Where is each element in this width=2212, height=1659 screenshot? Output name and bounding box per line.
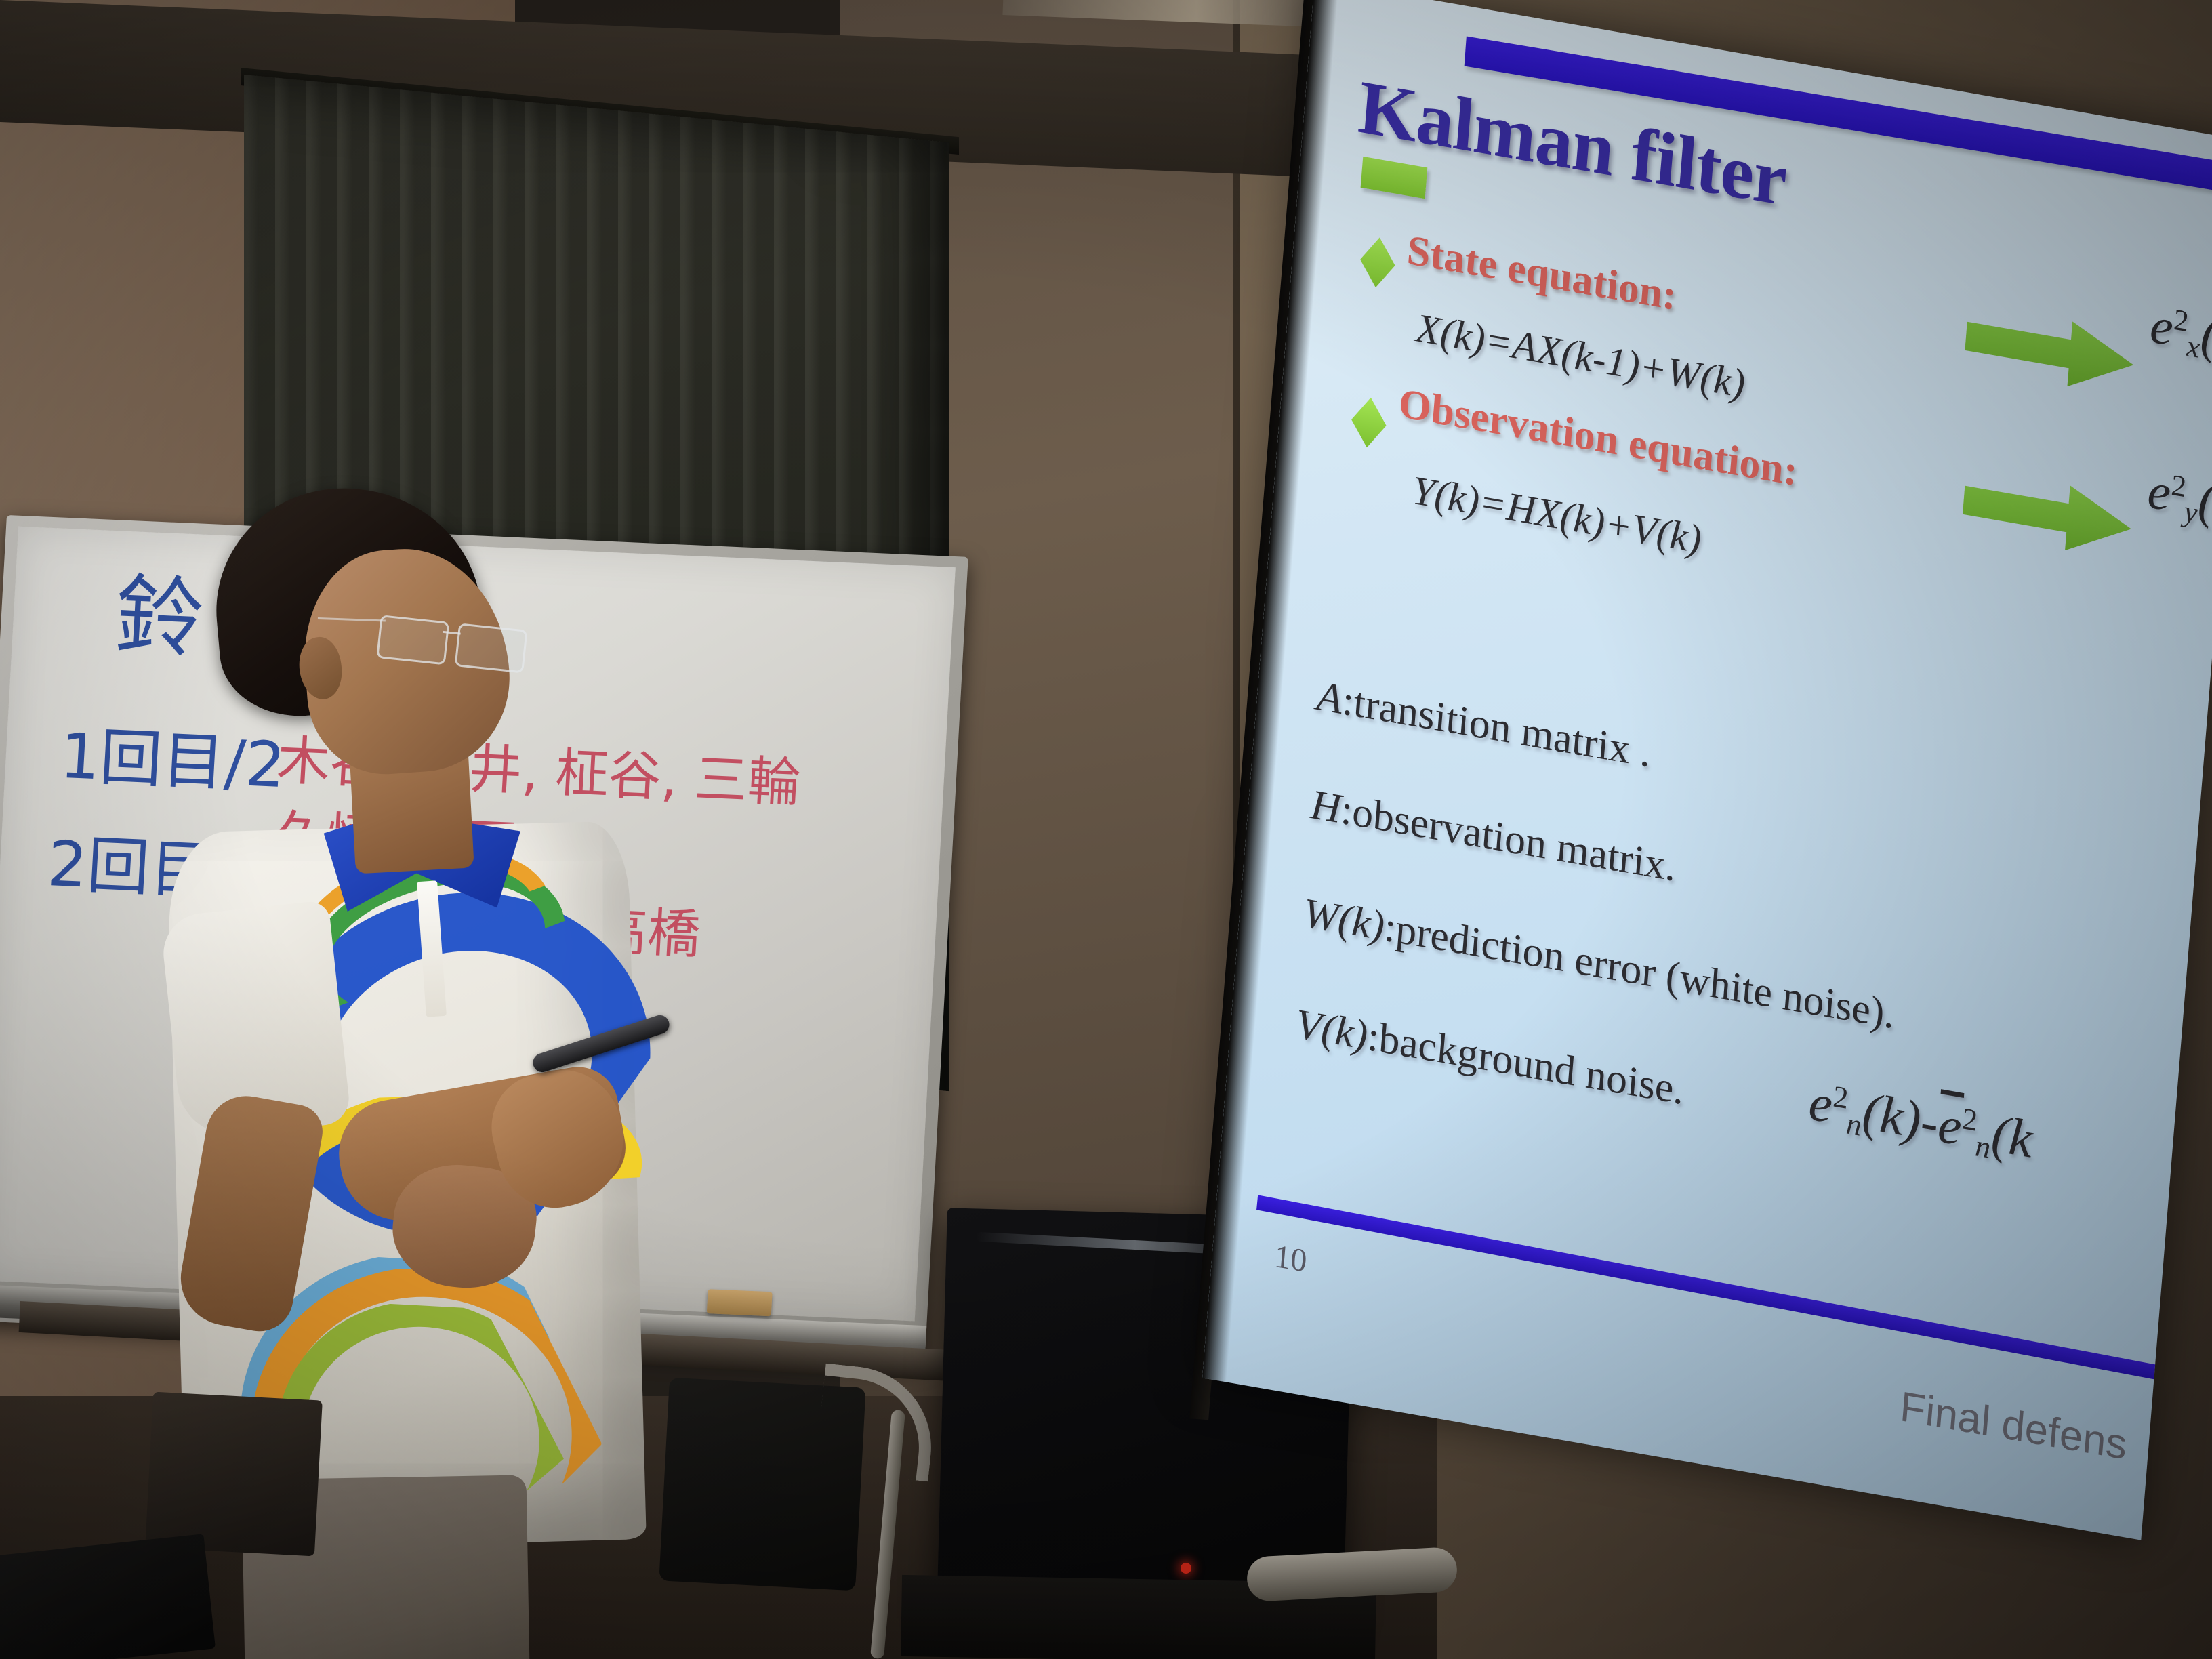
projection-screen: Kalman filter State equation: e2x(k X(k)…	[1202, 0, 2212, 1540]
obs-error-arg: (k)	[2196, 470, 2212, 537]
trailing-arg: (k)	[1860, 1081, 1923, 1150]
definition-3-text: :background noise.	[1366, 1013, 1685, 1113]
state-error-expression: e2x(k	[2148, 295, 2212, 372]
definition-3: V(k):background noise.	[1294, 1000, 1685, 1115]
definition-0-symbol: A	[1315, 673, 1345, 723]
definition-1: H:observation matrix.	[1309, 781, 1678, 892]
obs-equation-rhs: HX(k)+V(k)	[1504, 484, 1703, 562]
arrow-state-icon	[1963, 304, 2136, 397]
state-equation-lhs: X(k)	[1414, 305, 1487, 361]
trailing-ebar: e	[1936, 1094, 1964, 1157]
speaker-box	[145, 1392, 323, 1557]
slide-green-tab	[1361, 157, 1428, 199]
definition-2-text: :prediction error (white noise).	[1382, 903, 1896, 1038]
glasses-lens-left	[376, 615, 449, 665]
monitor-power-led	[1181, 1563, 1191, 1574]
photo-scene: 鈴 1回目/2 2回目/1 割り 天 木谷, 藤井, 柾谷, 三輪 久恒, 元田…	[0, 0, 2212, 1659]
state-error-arg: (k	[2198, 305, 2212, 369]
laptop	[0, 1534, 216, 1659]
definition-0-text: :transition matrix .	[1340, 677, 1652, 776]
definition-1-text: :observation matrix.	[1339, 787, 1678, 890]
arrow-observation-icon	[1961, 468, 2134, 561]
glasses-lens-right	[455, 623, 528, 673]
observation-equation: Y(k)=HX(k)+V(k)	[1410, 467, 1703, 563]
trailing-e: e	[1807, 1071, 1835, 1134]
trailing-expression: e2n(k)-e2n(k	[1807, 1071, 2035, 1172]
state-error-e: e	[2148, 296, 2175, 356]
definition-1-symbol: H	[1309, 781, 1343, 832]
obs-equation-eq: =	[1477, 479, 1508, 529]
projection-screen-area: Kalman filter State equation: e2x(k X(k)…	[1315, 0, 2212, 1423]
slide-bottom-rule	[1256, 1195, 2209, 1389]
bullet-marker-state	[1358, 234, 1397, 291]
slide-page-number: 10	[1273, 1237, 1309, 1280]
slide-footer-text: Final defens	[1898, 1382, 2129, 1469]
state-equation-eq: =	[1483, 317, 1514, 367]
bullet-label-state: State equation:	[1406, 226, 1679, 321]
bullet-marker-observation	[1349, 394, 1388, 451]
definition-3-symbol: V(k)	[1294, 1001, 1370, 1059]
definition-2-symbol: W(k)	[1302, 890, 1387, 949]
observation-error-expression: e2y(k)	[2146, 461, 2212, 540]
obs-error-e: e	[2146, 462, 2173, 522]
obs-equation-lhs: Y(k)	[1410, 468, 1481, 524]
state-equation-rhs: AX(k-1)+W(k)	[1511, 322, 1747, 407]
definition-0: A:transition matrix .	[1315, 672, 1652, 778]
wb-note-blue-0: 鈴	[113, 571, 206, 663]
trailing-ebar-arg: (k	[1990, 1103, 2035, 1169]
